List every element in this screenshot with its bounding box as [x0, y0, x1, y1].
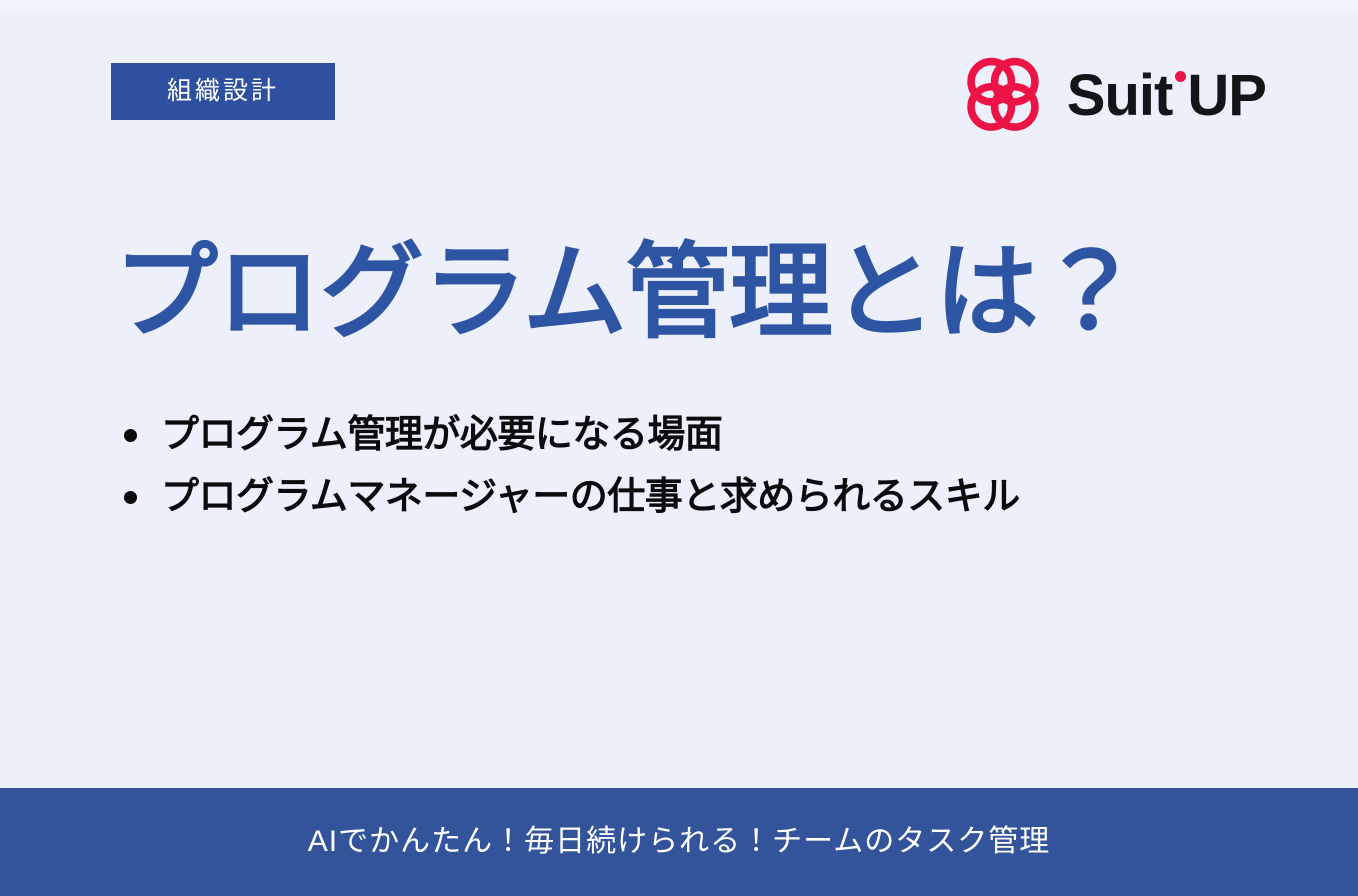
four-interlocking-rings-icon: [961, 54, 1045, 138]
category-badge-label: 組織設計: [167, 79, 279, 104]
bullet-dot-icon: [124, 429, 137, 442]
list-item: プログラム管理が必要になる場面: [124, 404, 1324, 466]
brand-name-text: Suit UP: [1067, 67, 1266, 125]
list-item-label: プログラムマネージャーの仕事と求められるスキル: [161, 474, 1020, 520]
brand-name: Suit UP: [1067, 67, 1266, 125]
list-item: プログラムマネージャーの仕事と求められるスキル: [124, 466, 1324, 528]
list-item-label: プログラム管理が必要になる場面: [161, 412, 722, 458]
topic-list: プログラム管理が必要になる場面 プログラムマネージャーの仕事と求められるスキル: [124, 404, 1324, 528]
slide-canvas: 組織設計 Suit UP プログラム管理とは？: [0, 0, 1358, 896]
page-title: プログラム管理とは？: [114, 233, 1294, 352]
slide-header: 組織設計 Suit UP: [0, 0, 1358, 160]
bullet-dot-icon: [124, 491, 137, 504]
brand-lockup: Suit UP: [961, 54, 1266, 138]
brand-i-dot-icon: [1175, 71, 1186, 82]
category-badge: 組織設計: [111, 63, 335, 120]
footer-tagline: AIでかんたん！毎日続けられる！チームのタスク管理: [308, 827, 1050, 857]
footer-band: AIでかんたん！毎日続けられる！チームのタスク管理: [0, 788, 1358, 896]
